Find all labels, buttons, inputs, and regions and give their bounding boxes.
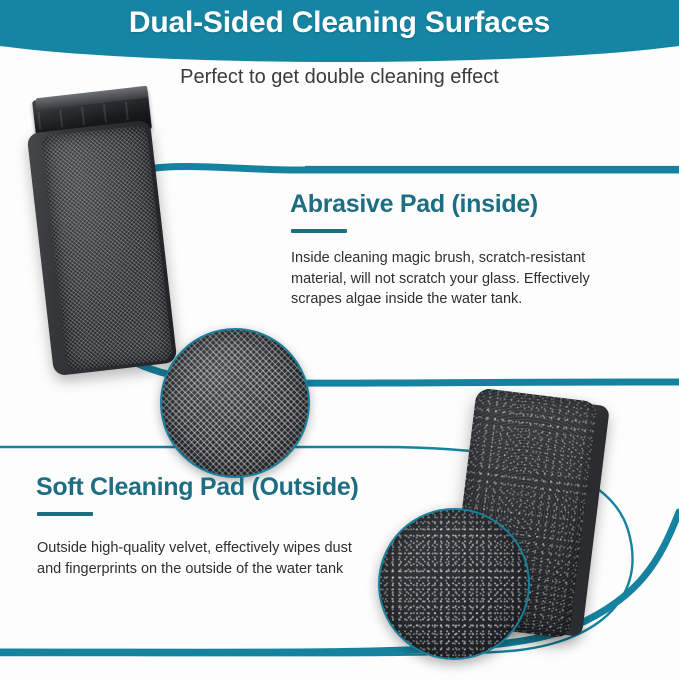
- infographic-canvas: Dual-Sided Cleaning Surfaces Perfect to …: [0, 0, 679, 680]
- section-heading-abrasive: Abrasive Pad (inside): [290, 190, 538, 219]
- page-subtitle: Perfect to get double cleaning effect: [0, 66, 679, 89]
- magnifier-velvet-texture: [378, 508, 530, 660]
- section-body-abrasive: Inside cleaning magic brush, scratch-res…: [291, 248, 641, 310]
- section-heading-soft: Soft Cleaning Pad (Outside): [36, 473, 358, 502]
- section-rule-abrasive: [291, 229, 347, 233]
- magnifier-abrasive-texture: [160, 328, 310, 478]
- product-image-abrasive-pad: [26, 92, 306, 382]
- section-rule-soft: [37, 512, 93, 516]
- product-image-soft-pad: [440, 388, 679, 654]
- section-body-soft: Outside high-quality velvet, effectively…: [37, 538, 367, 579]
- page-title: Dual-Sided Cleaning Surfaces: [0, 6, 679, 40]
